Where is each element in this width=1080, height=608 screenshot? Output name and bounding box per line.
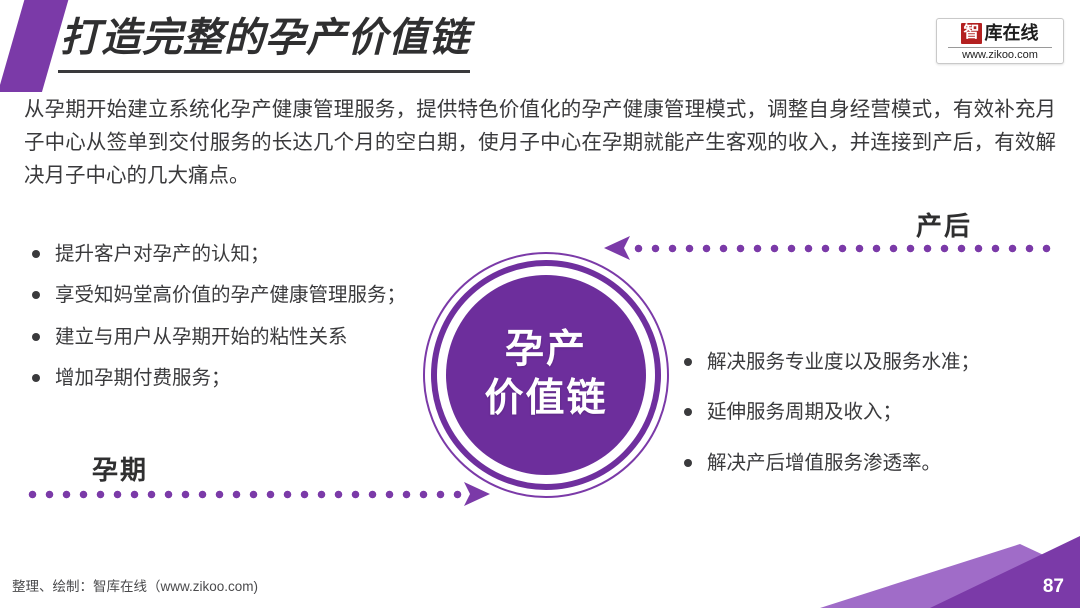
page-number: 87 (1043, 576, 1064, 598)
list-item: 增加孕期付费服务； (28, 364, 408, 392)
value-chain-circle: 孕产 价值链 (423, 252, 669, 498)
arrow-right-icon (464, 482, 490, 506)
left-bullet-list: 提升客户对孕产的认知； 享受知妈堂高价值的孕产健康管理服务； 建立与用户从孕期开… (28, 240, 408, 405)
slide-canvas: 打造完整的孕产价值链 智 库在线 www.zikoo.com 从孕期开始建立系统… (0, 0, 1080, 608)
circle-core: 孕产 价值链 (446, 275, 646, 475)
intro-paragraph: 从孕期开始建立系统化孕产健康管理服务，提供特色价值化的孕产健康管理模式，调整自身… (24, 94, 1056, 192)
bottom-right-decoration (780, 528, 1080, 608)
flow-label-pregnancy: 孕期 (92, 450, 148, 487)
title-underline (58, 70, 470, 73)
list-item: 建立与用户从孕期开始的粘性关系 (28, 323, 408, 351)
flow-arrow-postpartum (604, 241, 1056, 255)
dotted-line (24, 490, 464, 499)
logo-badge-character: 智 (961, 23, 981, 44)
dotted-line (630, 244, 1056, 253)
zikoo-logo: 智 库在线 www.zikoo.com (936, 18, 1064, 64)
footer-credit: 整理、绘制：智库在线（www.zikoo.com) (12, 575, 258, 595)
list-item: 享受知妈堂高价值的孕产健康管理服务； (28, 281, 408, 309)
logo-url: www.zikoo.com (948, 47, 1052, 61)
page-title: 打造完整的孕产价值链 (60, 15, 470, 61)
list-item: 解决产后增值服务渗透率。 (680, 449, 1050, 477)
logo-wordmark: 智 库在线 (961, 21, 1038, 45)
right-bullet-list: 解决服务专业度以及服务水准； 延伸服务周期及收入； 解决产后增值服务渗透率。 (680, 348, 1050, 499)
circle-label-line1: 孕产 (505, 326, 587, 375)
list-item: 提升客户对孕产的认知； (28, 240, 408, 268)
flow-label-postpartum: 产后 (916, 206, 972, 243)
circle-label-line2: 价值链 (484, 375, 607, 424)
logo-brand-name: 库在线 (985, 24, 1039, 42)
list-item: 解决服务专业度以及服务水准； (680, 348, 1050, 376)
flow-arrow-pregnancy (24, 487, 490, 501)
list-item: 延伸服务周期及收入； (680, 398, 1050, 426)
arrow-left-icon (604, 236, 630, 260)
